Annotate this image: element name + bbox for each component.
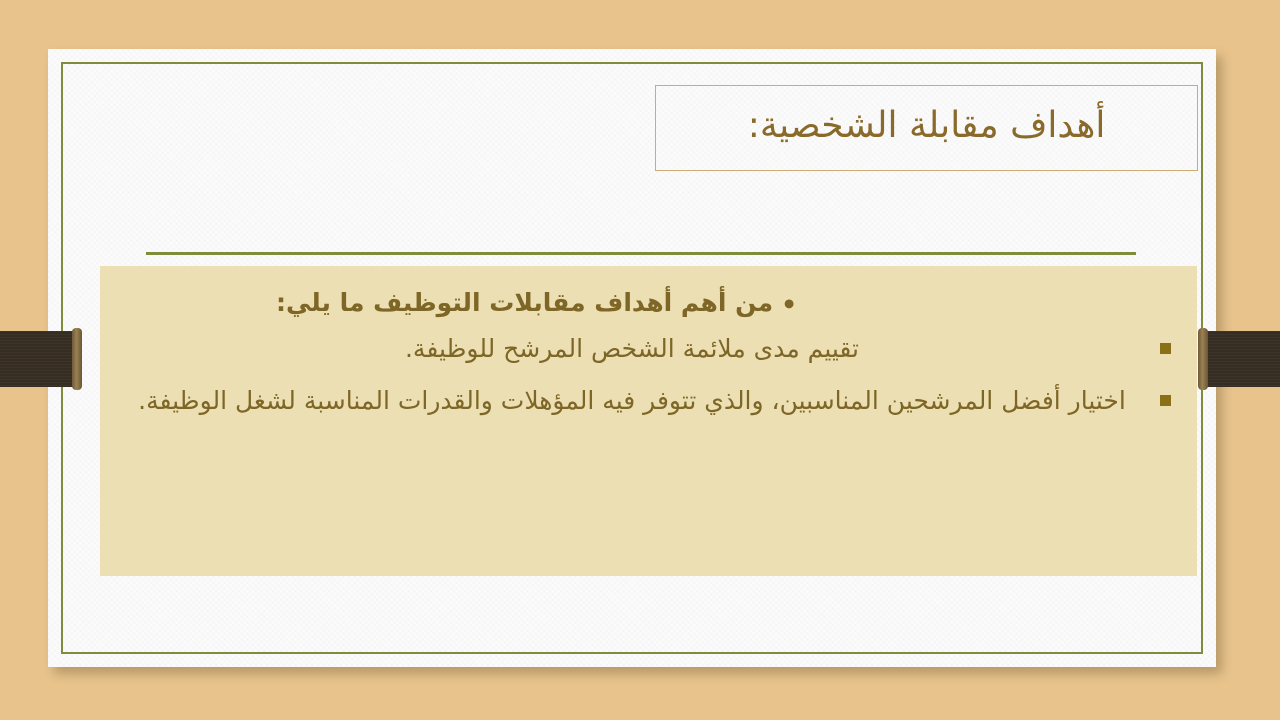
- ribbon-cap-left-icon: [72, 328, 82, 390]
- page-title: أهداف مقابلة الشخصية:: [748, 108, 1106, 148]
- ribbon-cap-right-icon: [1198, 328, 1208, 390]
- square-bullet-icon: [1160, 395, 1171, 406]
- decorative-ribbon-left: [0, 331, 78, 387]
- list-item: تقييم مدى ملائمة الشخص المرشح للوظيفة.: [126, 331, 1171, 367]
- lead-text: من أهم أهداف مقابلات التوظيف ما يلي:: [276, 288, 773, 317]
- list-item: • من أهم أهداف مقابلات التوظيف ما يلي:: [126, 288, 1171, 317]
- list-item-text: اختيار أفضل المرشحين المناسبين، والذي تت…: [126, 383, 1138, 419]
- dot-bullet-icon: •: [781, 292, 797, 317]
- content-panel: • من أهم أهداف مقابلات التوظيف ما يلي: ت…: [100, 266, 1197, 576]
- slide-title-box: أهداف مقابلة الشخصية:: [655, 85, 1198, 171]
- list-item: اختيار أفضل المرشحين المناسبين، والذي تت…: [126, 383, 1171, 419]
- title-separator-rule: [146, 252, 1136, 255]
- list-item-text: تقييم مدى ملائمة الشخص المرشح للوظيفة.: [126, 331, 1138, 367]
- slide-stage: أهداف مقابلة الشخصية: • من أهم أهداف مقا…: [0, 0, 1280, 720]
- decorative-ribbon-right: [1205, 331, 1280, 387]
- square-bullet-icon: [1160, 343, 1171, 354]
